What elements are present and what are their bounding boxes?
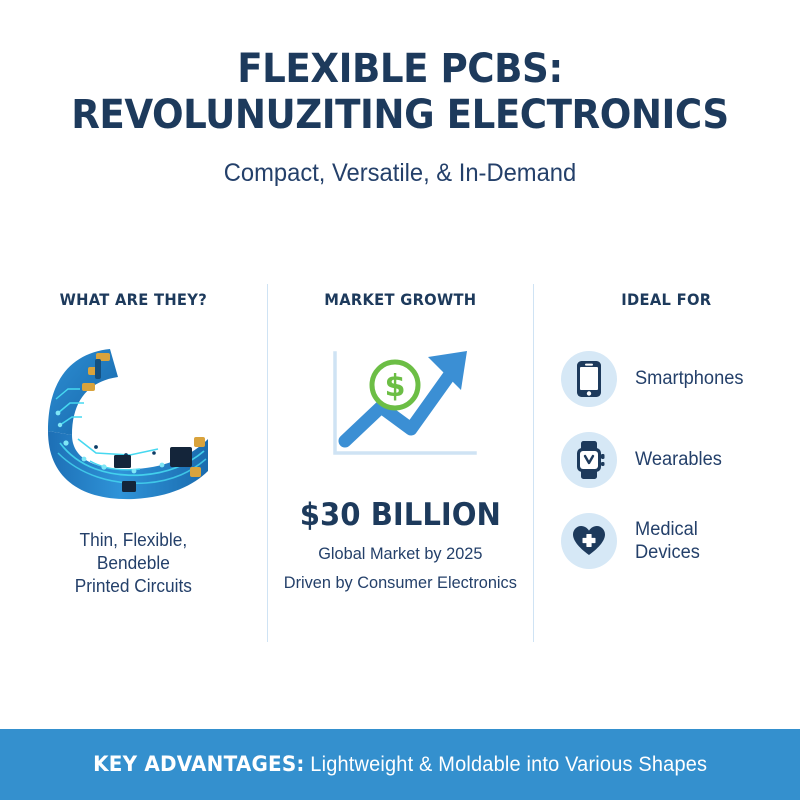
left-column-caption: Thin, Flexible, Bendeble Printed Circuit… <box>15 529 252 598</box>
list-item-label: Wearables <box>635 448 722 471</box>
pcb-pad <box>82 383 95 391</box>
title-line-1: FLEXIBLE PCBS: <box>28 46 772 92</box>
phone-home-button <box>587 391 591 395</box>
watch-face <box>580 451 598 469</box>
list-item-label-line-1: Medical <box>635 518 700 541</box>
pcb-upper-arm <box>48 349 118 435</box>
pcb-via <box>82 457 87 462</box>
key-advantages-banner: KEY ADVANTAGES: Lightweight & Moldable i… <box>0 729 800 800</box>
pcb-component <box>95 359 101 379</box>
flexible-pcb-svg <box>38 343 228 503</box>
column-market-growth: MARKET GROWTH $ $30 BILLION Global Marke… <box>267 278 534 648</box>
market-stat-value: $30 BILLION <box>284 497 516 533</box>
pcb-via <box>56 411 61 416</box>
pcb-pad <box>194 437 205 447</box>
phone-speaker <box>585 364 593 366</box>
page-subtitle: Compact, Versatile, & In-Demand <box>20 159 780 188</box>
pcb-trace <box>78 439 158 455</box>
list-item-wearables: Wearables <box>561 432 790 488</box>
market-stat-subtitle: Global Market by 2025 <box>282 544 519 564</box>
pcb-pad <box>190 467 201 477</box>
list-item-smartphones: Smartphones <box>561 351 790 407</box>
column-what-are-they: WHAT ARE THEY? <box>0 278 267 648</box>
pcb-via <box>132 469 137 474</box>
pcb-via <box>64 440 69 445</box>
pcb-via <box>102 464 107 469</box>
list-item-medical-devices: Medical Devices <box>561 513 790 569</box>
cross-horizontal <box>583 538 596 543</box>
pcb-hole <box>153 451 157 455</box>
banner-label: KEY ADVANTAGES: <box>93 752 304 776</box>
content-columns: WHAT ARE THEY? <box>0 278 800 648</box>
smartwatch-glyph <box>572 441 606 479</box>
dollar-sign-glyph: $ <box>385 369 406 404</box>
medical-heart-icon <box>561 513 617 569</box>
page-title: FLEXIBLE PCBS: REVOLUNUZITING ELECTRONIC… <box>28 46 772 139</box>
column-ideal-for: IDEAL FOR Smartphones <box>533 278 800 648</box>
pcb-chip-large <box>170 447 192 467</box>
list-item-label-line-2: Devices <box>635 541 700 564</box>
pcb-hole <box>94 445 98 449</box>
growth-chart-icon: $ <box>277 333 524 483</box>
caption-line-1: Thin, Flexible, <box>15 529 252 552</box>
pcb-chip <box>122 481 136 492</box>
banner-description: Lightweight & Moldable into Various Shap… <box>304 753 707 776</box>
banner-text: KEY ADVANTAGES: Lightweight & Moldable i… <box>93 752 707 777</box>
smartphone-icon <box>561 351 617 407</box>
smartwatch-icon <box>561 432 617 488</box>
column-heading-market-growth: MARKET GROWTH <box>287 290 514 309</box>
market-stat-driver: Driven by Consumer Electronics <box>282 573 519 593</box>
caption-line-2: Bendeble <box>15 552 252 575</box>
pcb-via <box>160 463 165 468</box>
pcb-via <box>58 423 62 427</box>
title-line-2: REVOLUNUZITING ELECTRONICS <box>28 92 772 138</box>
ideal-for-list: Smartphones Wearables <box>543 351 790 569</box>
medical-heart-glyph <box>572 525 606 557</box>
list-item-label: Smartphones <box>635 367 743 390</box>
list-item-label: Medical Devices <box>635 518 700 564</box>
caption-line-3: Printed Circuits <box>15 575 252 598</box>
page-header: FLEXIBLE PCBS: REVOLUNUZITING ELECTRONIC… <box>0 0 800 188</box>
phone-screen <box>580 367 598 390</box>
column-heading-ideal-for: IDEAL FOR <box>553 290 780 309</box>
watch-button <box>601 462 605 466</box>
smartphone-glyph <box>574 360 604 398</box>
column-heading-what-are-they: WHAT ARE THEY? <box>20 290 247 309</box>
watch-crown <box>601 454 605 459</box>
growth-chart-svg: $ <box>305 333 495 483</box>
flexible-pcb-illustration <box>10 343 257 503</box>
pcb-chip <box>114 455 131 468</box>
